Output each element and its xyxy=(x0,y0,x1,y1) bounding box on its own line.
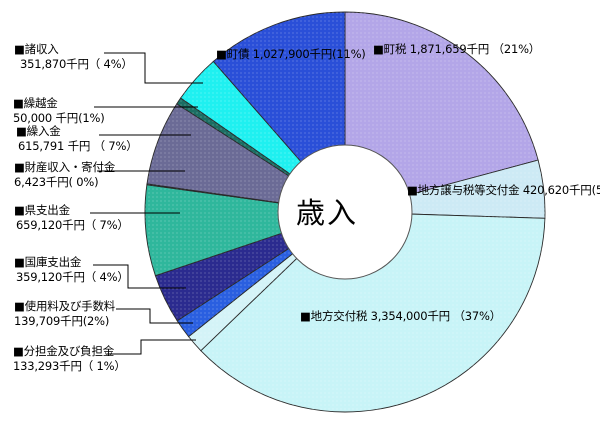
callout-kokkoshishutsukin: ■国庫支出金 359,120千円（ 4%） xyxy=(14,255,129,284)
slice-label-chihokofuzei: ■地方交付税 3,354,000千円 （37%） xyxy=(300,309,450,323)
callout-kurinyukin-line2: 615,791 千円 （ 7%） xyxy=(16,139,138,154)
callout-shoshunyu-line1: ■諸収入 xyxy=(14,42,133,57)
chart-canvas: 歳入 ■町債 1,027,900千円(11%) ■町税 1,871,659千円 … xyxy=(0,0,600,440)
callout-zaisanshunyu: ■財産収入・寄付金 6,423千円( 0%) xyxy=(14,160,115,189)
center-title: 歳入 xyxy=(296,190,358,232)
slice-label-chosai-line2: 1,027,900千円(11%) xyxy=(253,47,366,61)
callout-kokkoshishutsukin-line1: ■国庫支出金 xyxy=(14,255,129,270)
callout-zaisanshunyu-line2: 6,423千円( 0%) xyxy=(14,175,115,190)
callout-kurinyukin: ■繰入金 615,791 千円 （ 7%） xyxy=(16,124,138,153)
callout-kokkoshishutsukin-line2: 359,120千円（ 4%） xyxy=(14,270,129,285)
callout-kenshishutsukin-line2: 659,120千円（ 7%） xyxy=(14,218,129,233)
callout-shiyoryo-line2: 139,709千円(2%) xyxy=(14,314,115,329)
callout-buntankin-line1: ■分担金及び負担金 xyxy=(13,344,126,359)
callout-kurikoshikin: ■繰越金 50,000 千円(1%) xyxy=(13,96,105,125)
slice-label-chihojoyozei-line2: 420,620千円(5%) xyxy=(523,183,600,197)
callout-kenshishutsukin: ■県支出金 659,120千円（ 7%） xyxy=(14,203,129,232)
callout-shiyoryo-line1: ■使用料及び手数料 xyxy=(14,299,115,314)
slice-label-chihokofuzei-line1: ■地方交付税 xyxy=(300,309,367,323)
callout-shoshunyu-line2: 351,870千円（ 4%） xyxy=(14,57,133,72)
slice-label-chozei-line3: （21%） xyxy=(493,42,541,56)
callout-kenshishutsukin-line1: ■県支出金 xyxy=(14,203,129,218)
callout-zaisanshunyu-line1: ■財産収入・寄付金 xyxy=(14,160,115,175)
slice-label-chozei-line2: 1,871,659千円 xyxy=(410,42,489,56)
slice-label-chihojoyozei-line1: ■地方譲与税等交付金 xyxy=(407,183,519,197)
callout-kurinyukin-line1: ■繰入金 xyxy=(16,124,138,139)
slice-label-chihojoyozei: ■地方譲与税等交付金 420,620千円(5%) xyxy=(407,183,600,197)
slice-label-chosai-line1: ■町債 xyxy=(216,47,249,61)
slice-label-chozei: ■町税 1,871,659千円 （21%） xyxy=(373,42,503,56)
callout-shoshunyu: ■諸収入 351,870千円（ 4%） xyxy=(14,42,133,71)
callout-buntankin: ■分担金及び負担金 133,293千円（ 1%） xyxy=(13,344,126,373)
slice-label-chihokofuzei-line2: 3,354,000千円 xyxy=(371,309,450,323)
callout-buntankin-line2: 133,293千円（ 1%） xyxy=(13,359,126,374)
callout-kurikoshikin-line2: 50,000 千円(1%) xyxy=(13,111,105,126)
slice-label-chosai: ■町債 1,027,900千円(11%) xyxy=(216,47,366,61)
callout-shiyoryo: ■使用料及び手数料 139,709千円(2%) xyxy=(14,299,115,328)
slice-label-chihokofuzei-line3: （37%） xyxy=(453,309,501,323)
slice-label-chozei-line1: ■町税 xyxy=(373,42,406,56)
callout-kurikoshikin-line1: ■繰越金 xyxy=(13,96,105,111)
